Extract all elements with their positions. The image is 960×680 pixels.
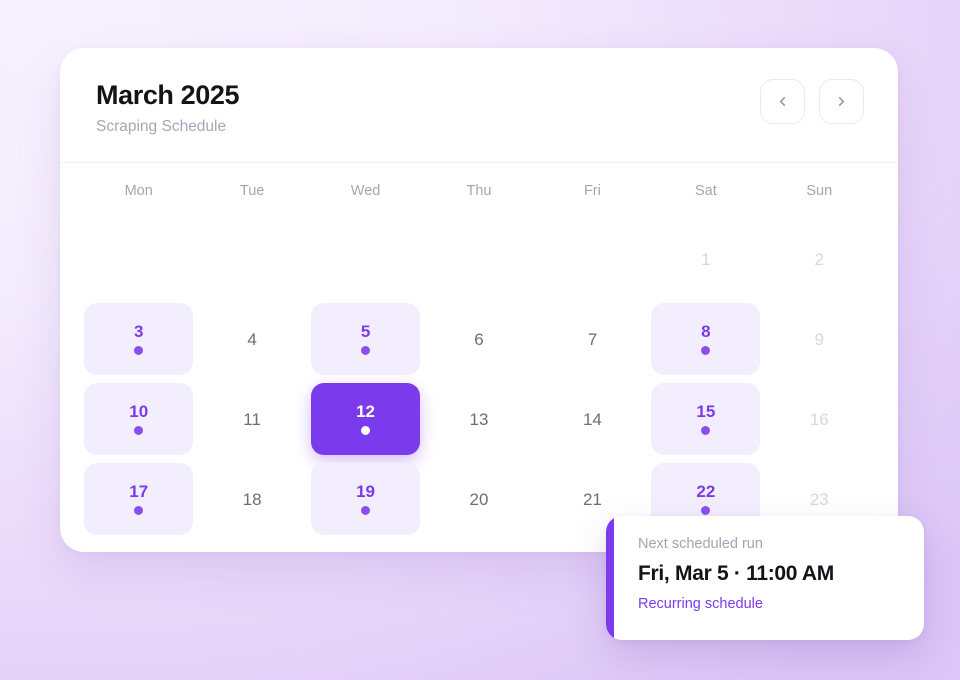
day-cell[interactable]: 12 <box>309 379 422 459</box>
day-number: 22 <box>696 483 715 500</box>
day-box[interactable]: 20 <box>424 463 533 535</box>
scheduled-run-dot <box>361 346 370 355</box>
page-subtitle: Scraping Schedule <box>96 118 862 136</box>
calendar-header: March 2025 Scraping Schedule <box>60 48 898 163</box>
scheduled-run-dot <box>134 426 143 435</box>
day-box[interactable]: 18 <box>198 463 307 535</box>
day-number: 2 <box>815 251 824 268</box>
day-cell-empty <box>536 219 649 299</box>
next-run-tooltip-card: Next scheduled run Fri, Mar 5 · 11:00 AM… <box>606 516 924 640</box>
day-number: 13 <box>470 411 489 428</box>
day-cell[interactable]: 10 <box>82 379 195 459</box>
day-cell[interactable]: 15 <box>649 379 762 459</box>
day-box[interactable]: 16 <box>765 383 874 455</box>
day-number: 21 <box>583 491 602 508</box>
day-number: 6 <box>474 331 483 348</box>
day-box[interactable]: 2 <box>765 223 874 295</box>
day-cell-empty <box>82 219 195 299</box>
day-number: 12 <box>356 403 375 420</box>
day-box[interactable]: 17 <box>84 463 193 535</box>
chevron-right-icon <box>834 94 849 109</box>
day-number: 23 <box>810 491 829 508</box>
day-number: 15 <box>696 403 715 420</box>
day-cell-empty <box>195 219 308 299</box>
day-cell[interactable]: 13 <box>422 379 535 459</box>
tooltip-accent-bar <box>606 516 614 640</box>
tooltip-label: Next scheduled run <box>638 536 902 553</box>
day-box[interactable]: 15 <box>651 383 760 455</box>
day-box[interactable]: 19 <box>311 463 420 535</box>
scheduled-run-dot <box>701 506 710 515</box>
day-cell[interactable]: 14 <box>536 379 649 459</box>
day-box[interactable]: 3 <box>84 303 193 375</box>
day-number: 8 <box>701 323 710 340</box>
day-cell[interactable]: 4 <box>195 299 308 379</box>
weekday-label-thu: Thu <box>422 183 535 199</box>
scheduled-run-dot <box>134 506 143 515</box>
weekday-label-sun: Sun <box>763 183 876 199</box>
day-number: 4 <box>247 331 256 348</box>
page-title: March 2025 <box>96 80 862 110</box>
calendar-day-grid: 1234567891011121314151617181920212223 <box>60 219 898 539</box>
day-cell[interactable]: 20 <box>422 459 535 539</box>
scheduled-run-dot <box>701 346 710 355</box>
next-month-button[interactable] <box>819 79 864 124</box>
day-number: 18 <box>243 491 262 508</box>
day-number: 5 <box>361 323 370 340</box>
day-box[interactable]: 7 <box>538 303 647 375</box>
scheduled-run-dot <box>361 506 370 515</box>
day-box[interactable]: 14 <box>538 383 647 455</box>
day-box[interactable]: 12 <box>311 383 420 455</box>
day-box[interactable]: 5 <box>311 303 420 375</box>
day-cell[interactable]: 2 <box>763 219 876 299</box>
day-cell-empty <box>309 219 422 299</box>
month-navigation <box>760 79 864 124</box>
weekday-label-sat: Sat <box>649 183 762 199</box>
day-cell[interactable]: 18 <box>195 459 308 539</box>
day-number: 16 <box>810 411 829 428</box>
day-number: 3 <box>134 323 143 340</box>
scheduled-run-dot <box>361 426 370 435</box>
day-box[interactable]: 1 <box>651 223 760 295</box>
day-box[interactable]: 9 <box>765 303 874 375</box>
day-cell[interactable]: 19 <box>309 459 422 539</box>
day-cell[interactable]: 16 <box>763 379 876 459</box>
recurring-schedule-link[interactable]: Recurring schedule <box>638 596 902 612</box>
tooltip-value: Fri, Mar 5 · 11:00 AM <box>638 562 902 586</box>
chevron-left-icon <box>775 94 790 109</box>
day-cell[interactable]: 8 <box>649 299 762 379</box>
weekday-label-tue: Tue <box>195 183 308 199</box>
day-box[interactable]: 11 <box>198 383 307 455</box>
day-cell[interactable]: 7 <box>536 299 649 379</box>
tooltip-body: Next scheduled run Fri, Mar 5 · 11:00 AM… <box>614 516 924 640</box>
day-cell-empty <box>422 219 535 299</box>
day-number: 19 <box>356 483 375 500</box>
calendar-card: March 2025 Scraping Schedule MonTueWedTh… <box>60 48 898 552</box>
day-number: 7 <box>588 331 597 348</box>
day-cell[interactable]: 17 <box>82 459 195 539</box>
prev-month-button[interactable] <box>760 79 805 124</box>
day-number: 20 <box>470 491 489 508</box>
day-box[interactable]: 13 <box>424 383 533 455</box>
day-cell[interactable]: 11 <box>195 379 308 459</box>
day-box[interactable]: 10 <box>84 383 193 455</box>
day-cell[interactable]: 5 <box>309 299 422 379</box>
day-number: 17 <box>129 483 148 500</box>
weekday-header-row: MonTueWedThuFriSatSun <box>60 163 898 219</box>
day-box[interactable]: 8 <box>651 303 760 375</box>
day-cell[interactable]: 1 <box>649 219 762 299</box>
day-number: 1 <box>701 251 710 268</box>
day-number: 14 <box>583 411 602 428</box>
day-number: 9 <box>815 331 824 348</box>
weekday-label-mon: Mon <box>82 183 195 199</box>
day-number: 10 <box>129 403 148 420</box>
day-number: 11 <box>243 411 261 428</box>
weekday-label-fri: Fri <box>536 183 649 199</box>
scheduled-run-dot <box>134 346 143 355</box>
day-cell[interactable]: 3 <box>82 299 195 379</box>
day-cell[interactable]: 9 <box>763 299 876 379</box>
day-cell[interactable]: 6 <box>422 299 535 379</box>
weekday-label-wed: Wed <box>309 183 422 199</box>
day-box[interactable]: 4 <box>198 303 307 375</box>
scheduled-run-dot <box>701 426 710 435</box>
day-box[interactable]: 6 <box>424 303 533 375</box>
